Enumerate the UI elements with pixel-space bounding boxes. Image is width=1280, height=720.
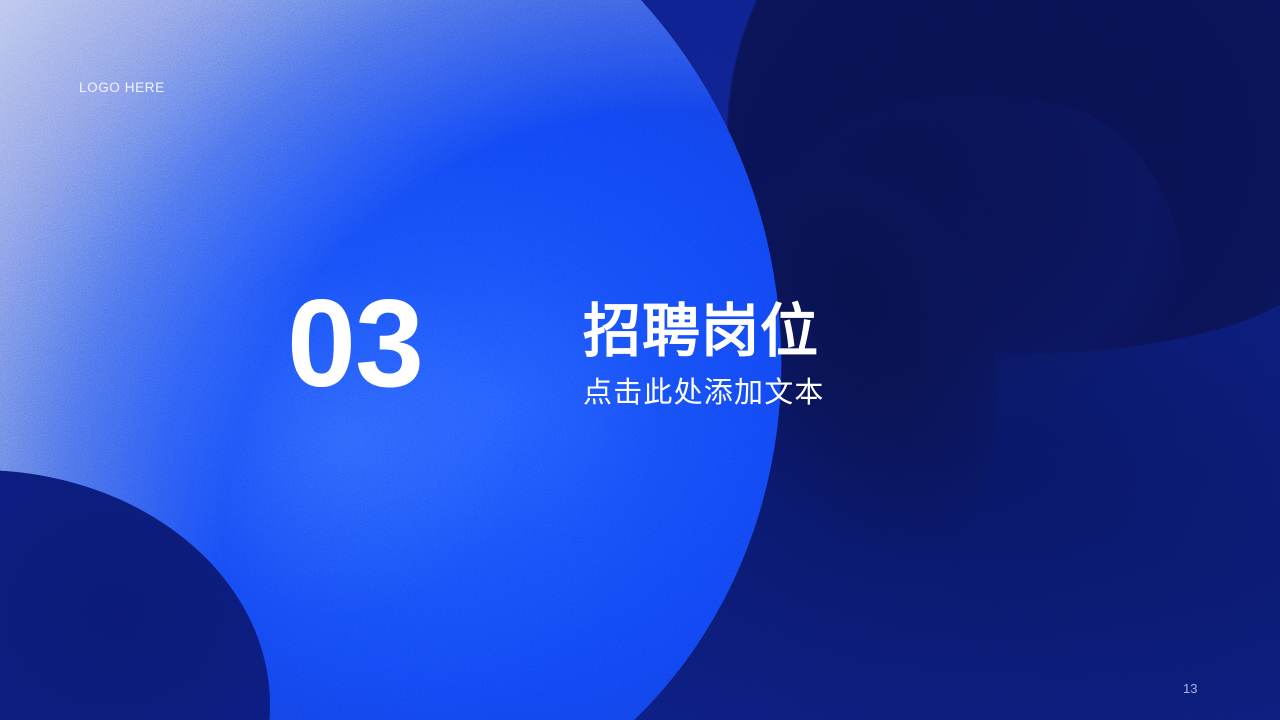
- presentation-slide: LOGO HERE 03 招聘岗位 点击此处添加文本 13: [0, 0, 1280, 720]
- section-title-block: 招聘岗位 点击此处添加文本: [583, 300, 825, 409]
- page-number: 13: [1183, 681, 1197, 696]
- logo-placeholder[interactable]: LOGO HERE: [79, 80, 165, 95]
- section-number: 03: [287, 282, 423, 406]
- section-subtitle[interactable]: 点击此处添加文本: [583, 375, 825, 410]
- section-title[interactable]: 招聘岗位: [583, 300, 825, 363]
